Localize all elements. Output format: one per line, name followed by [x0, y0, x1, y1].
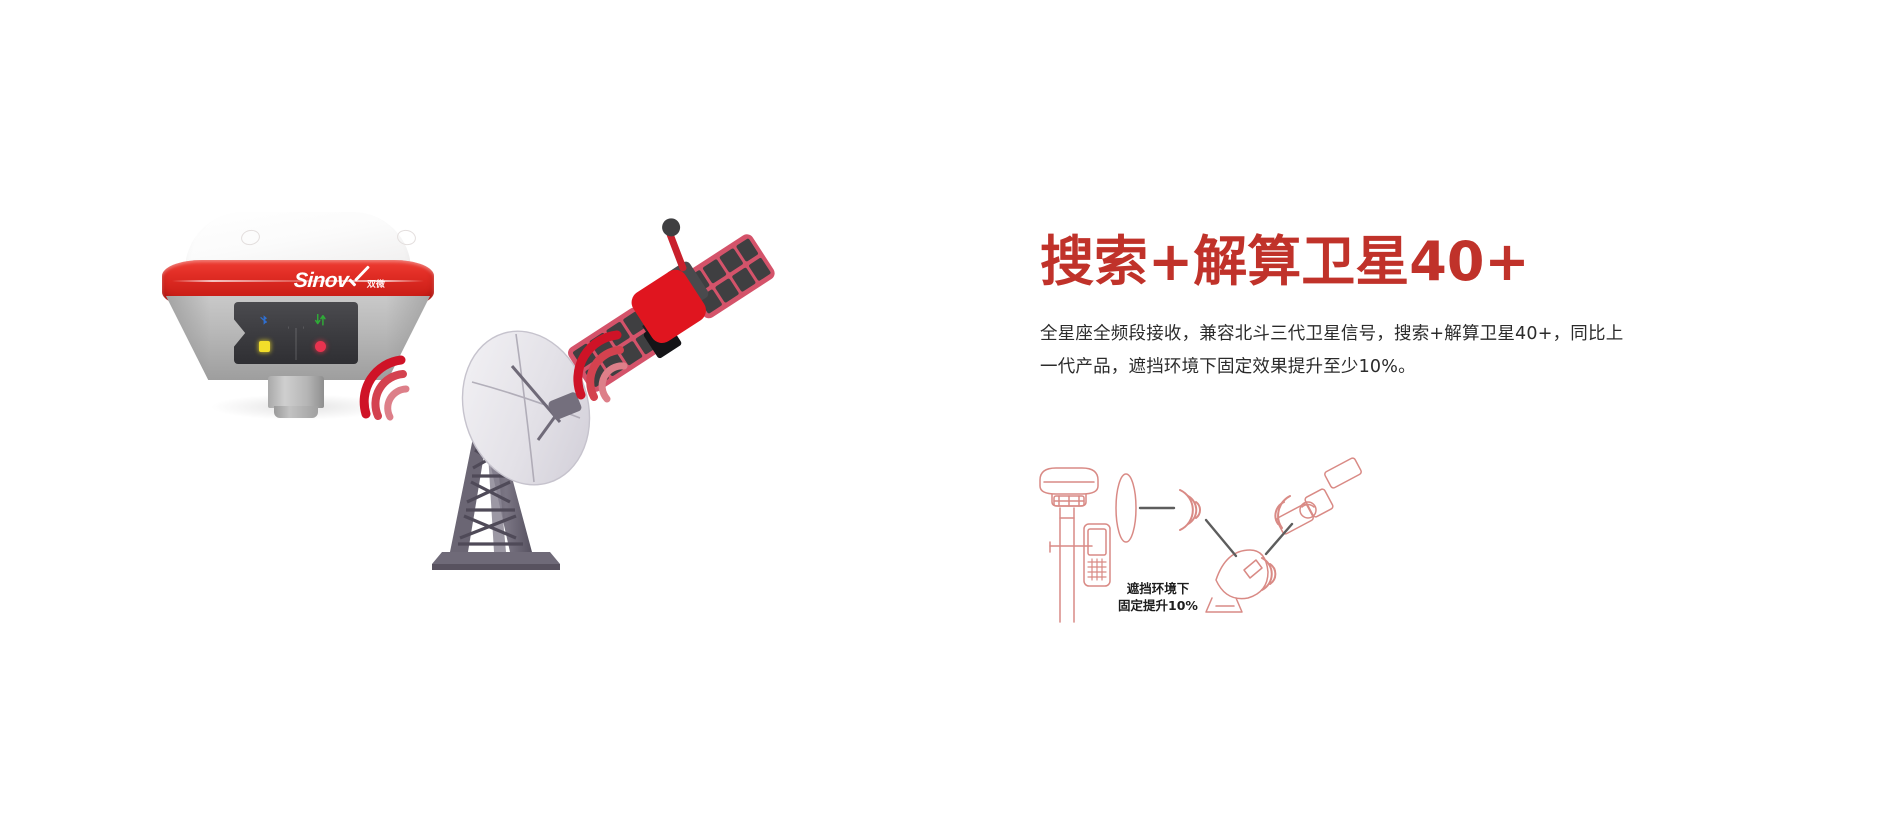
body-copy: 全星座全频段接收，兼容北斗三代卫星信号，搜索+解算卫星40+，同比上一代产品，遮…: [1040, 318, 1640, 383]
red-led-chip: [315, 341, 326, 352]
dome-screw-hole-right: [396, 228, 418, 247]
panel-divider: [295, 328, 297, 360]
receiver-mount-foot: [274, 406, 318, 418]
receiver-indicator-panel: [234, 302, 358, 364]
page-root: Sinov 双微: [0, 0, 1901, 833]
page-title: 搜索+解算卫星40+: [1040, 232, 1680, 292]
data-link-icon: [314, 313, 327, 326]
signal-waves-device: [352, 358, 418, 420]
dome-screw-hole-left: [240, 228, 262, 247]
diagram-caption-line1: 遮挡环境下: [1127, 581, 1190, 596]
product-illustration-group: Sinov 双微: [0, 0, 1000, 833]
power-status-led: [314, 340, 327, 353]
bluetooth-icon: [258, 313, 271, 326]
orbiting-satellite: [565, 215, 780, 415]
receiver-mount-neck: [268, 376, 324, 408]
copy-block: 搜索+解算卫星40+ 全星座全频段接收，兼容北斗三代卫星信号，搜索+解算卫星40…: [1040, 232, 1680, 383]
sinov-logo: Sinov 双微: [293, 270, 386, 291]
diagram-caption: 遮挡环境下 固定提升10%: [1098, 581, 1218, 614]
satellite-status-led: [258, 340, 271, 353]
yellow-led-chip: [259, 341, 270, 352]
logo-chinese-name: 双微: [367, 281, 386, 290]
gnss-receiver-device: Sinov 双微: [150, 212, 450, 462]
diagram-caption-line2: 固定提升10%: [1098, 598, 1218, 615]
logo-wordmark: Sinov: [293, 270, 349, 291]
